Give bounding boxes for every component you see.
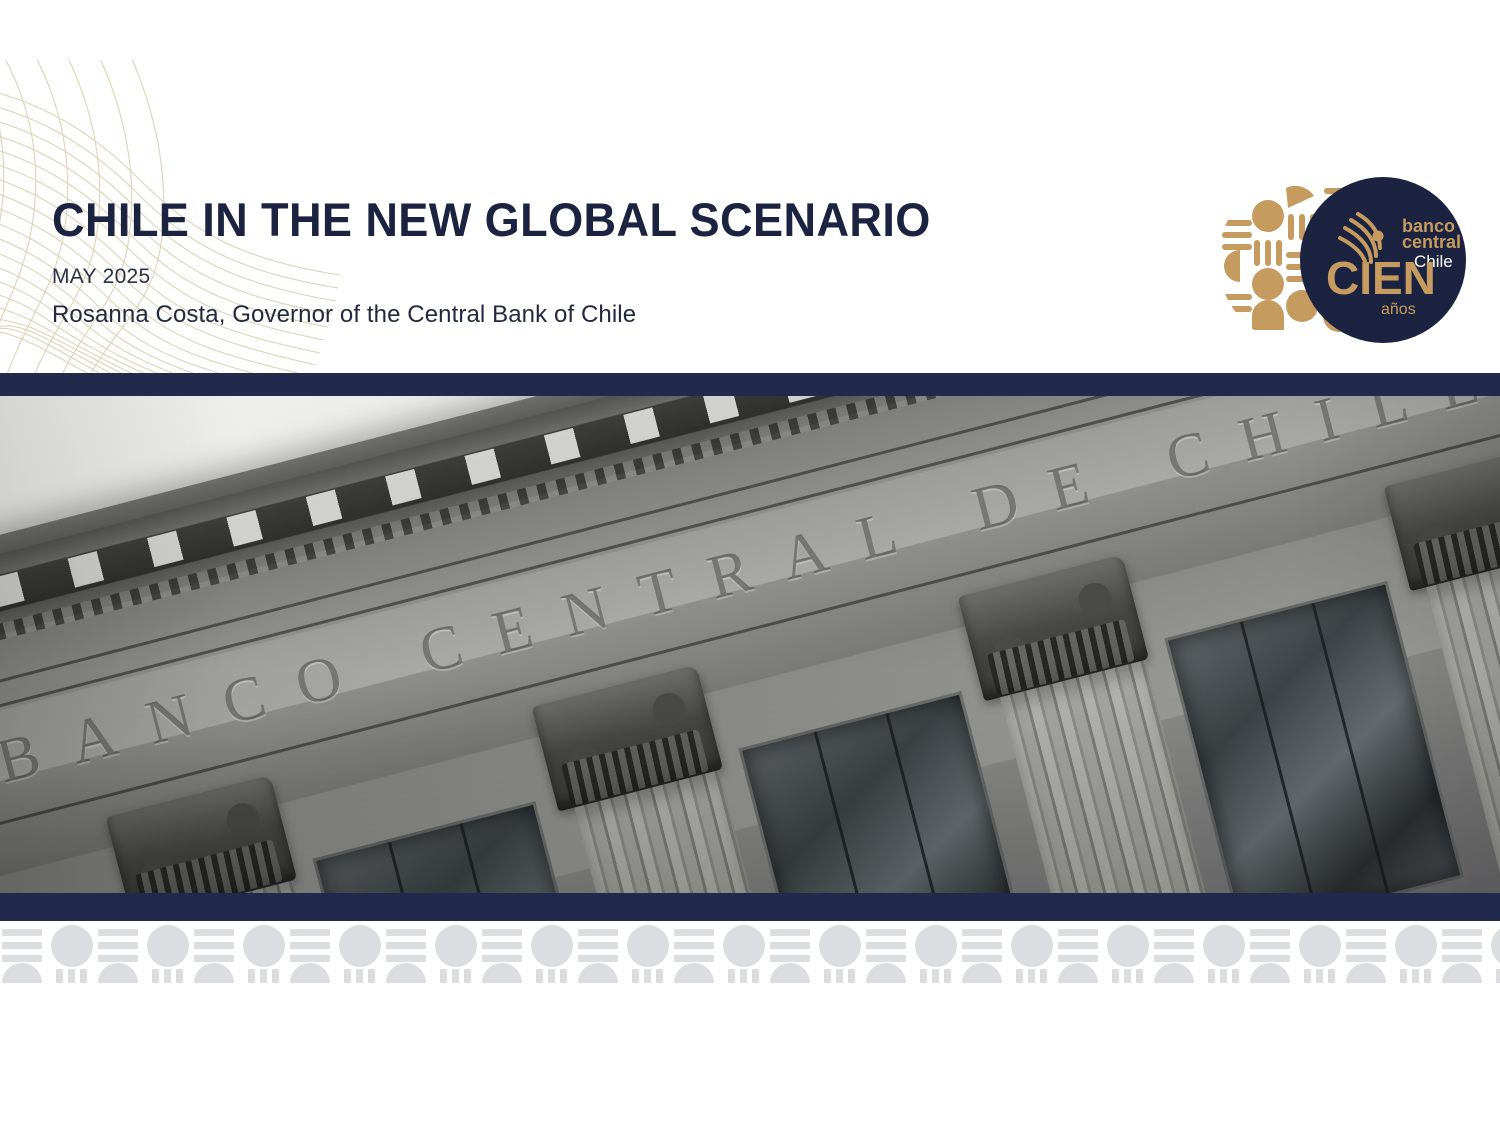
decorative-pattern-band: [0, 921, 1500, 983]
navy-divider-bottom: [0, 893, 1500, 921]
hero-building-image: BANCO CENTRAL DE CHILE: [0, 396, 1500, 893]
pattern-fill: [0, 921, 1500, 983]
navy-divider-top: [0, 373, 1500, 396]
slide-header: CHILE IN THE NEW GLOBAL SCENARIO MAY 202…: [0, 0, 1500, 373]
page-title: CHILE IN THE NEW GLOBAL SCENARIO: [52, 196, 1060, 243]
swoosh-dot: [1373, 231, 1384, 242]
slide-date: MAY 2025: [52, 243, 1102, 289]
title-block: CHILE IN THE NEW GLOBAL SCENARIO MAY 202…: [52, 196, 1102, 329]
footer-whitespace: [0, 983, 1500, 1125]
banco-central-chile-logo: banco central Chile CIEN años: [1218, 174, 1476, 346]
logo-anos-word: años: [1381, 301, 1416, 318]
column-capital: [1384, 444, 1500, 591]
logo-brand-central: central: [1402, 232, 1461, 252]
slide-author: Rosanna Costa, Governor of the Central B…: [52, 289, 1102, 329]
logo-cien-word: CIEN: [1326, 252, 1436, 304]
facade-window: [739, 691, 1038, 893]
column-capital: [106, 775, 298, 893]
facade-window: [313, 801, 612, 893]
presentation-slide: CHILE IN THE NEW GLOBAL SCENARIO MAY 202…: [0, 0, 1500, 1125]
facade-window: [1165, 581, 1464, 893]
